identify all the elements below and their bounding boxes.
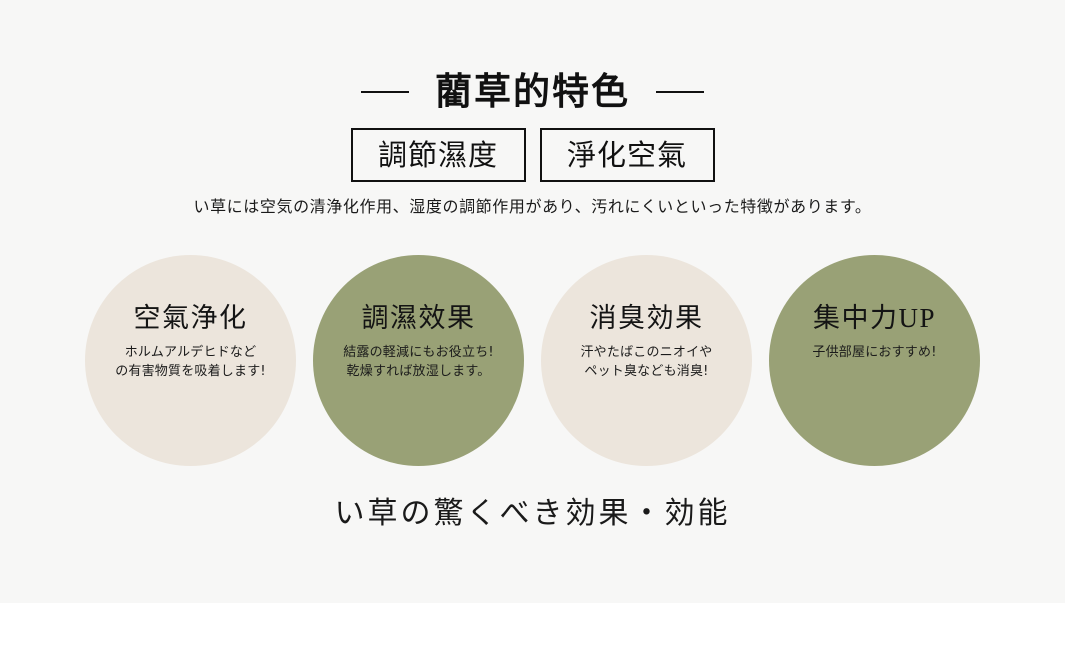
feature-tag-humidity: 調節濕度 [351, 128, 526, 182]
footer-caption: い草の驚くべき効果・効能 [0, 496, 1065, 532]
page-title: 藺草的特色 [435, 74, 630, 111]
benefit-subtitle: ホルムアルデヒドなど の有害物質を吸着します! [115, 344, 266, 382]
feature-tag-row: 調節濕度 淨化空氣 [0, 128, 1065, 182]
feature-tag-air-label: 淨化空氣 [567, 141, 687, 170]
benefit-title: 調濕效果 [362, 305, 476, 332]
benefit-subtitle: 子供部屋におすすめ! [812, 344, 936, 363]
benefit-title: 空氣浄化 [134, 305, 248, 332]
section-heading: 藺草的特色 [0, 68, 1065, 116]
heading-rule-right-icon [656, 91, 704, 93]
benefit-subtitle: 結露の軽減にもお役立ち! 乾燥すれば放湿します。 [343, 344, 494, 382]
heading-rule-left-icon [361, 91, 409, 93]
benefit-circle-row: 空氣浄化 ホルムアルデヒドなど の有害物質を吸着します! 調濕效果 結露の軽減に… [85, 255, 980, 466]
page-root: 藺草的特色 調節濕度 淨化空氣 い草には空気の清浄化作用、湿度の調節作用があり、… [0, 0, 1065, 665]
benefit-circle-humidity-control: 調濕效果 結露の軽減にもお役立ち! 乾燥すれば放湿します。 [313, 255, 524, 466]
feature-tag-air: 淨化空氣 [540, 128, 715, 182]
benefit-circle-concentration: 集中力UP 子供部屋におすすめ! [769, 255, 980, 466]
benefit-title: 集中力UP [813, 305, 936, 332]
benefit-title: 消臭効果 [590, 305, 704, 332]
benefit-circle-deodorizing: 消臭効果 汗やたばこのニオイや ペット臭なども消臭! [541, 255, 752, 466]
benefit-circle-air-purification: 空氣浄化 ホルムアルデヒドなど の有害物質を吸着します! [85, 255, 296, 466]
feature-tag-humidity-label: 調節濕度 [378, 141, 498, 170]
lead-description: い草には空気の清浄化作用、湿度の調節作用があり、汚れにくいといった特徴があります… [0, 196, 1065, 218]
benefit-subtitle: 汗やたばこのニオイや ペット臭なども消臭! [580, 344, 712, 382]
